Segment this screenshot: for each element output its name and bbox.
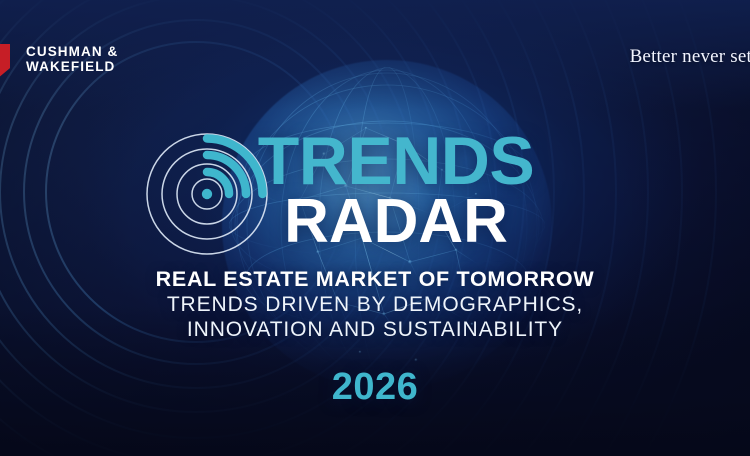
brand-wordmark: CUSHMAN & WAKEFIELD [26, 44, 118, 75]
brand-line-2: WAKEFIELD [26, 59, 118, 75]
hero-title: TRENDS RADAR [0, 128, 750, 253]
subtitle-line-2: INNOVATION AND SUSTAINABILITY [0, 317, 750, 343]
radar-signal-icon [144, 131, 270, 257]
hero-subtitle: REAL ESTATE MARKET OF TOMORROW TRENDS DR… [0, 266, 750, 343]
brand-tagline: Better never set [630, 46, 750, 68]
subtitle-line-1: TRENDS DRIVEN BY DEMOGRAPHICS, [0, 292, 750, 318]
brand-line-1: CUSHMAN & [26, 44, 118, 60]
slide-canvas: CUSHMAN & WAKEFIELD Better never set TRE… [0, 0, 750, 456]
brand-lockup: CUSHMAN & WAKEFIELD [0, 38, 118, 80]
year-label: 2026 [0, 366, 750, 409]
subtitle-headline: REAL ESTATE MARKET OF TOMORROW [0, 266, 750, 292]
cushman-wakefield-chevron-icon [0, 38, 18, 80]
